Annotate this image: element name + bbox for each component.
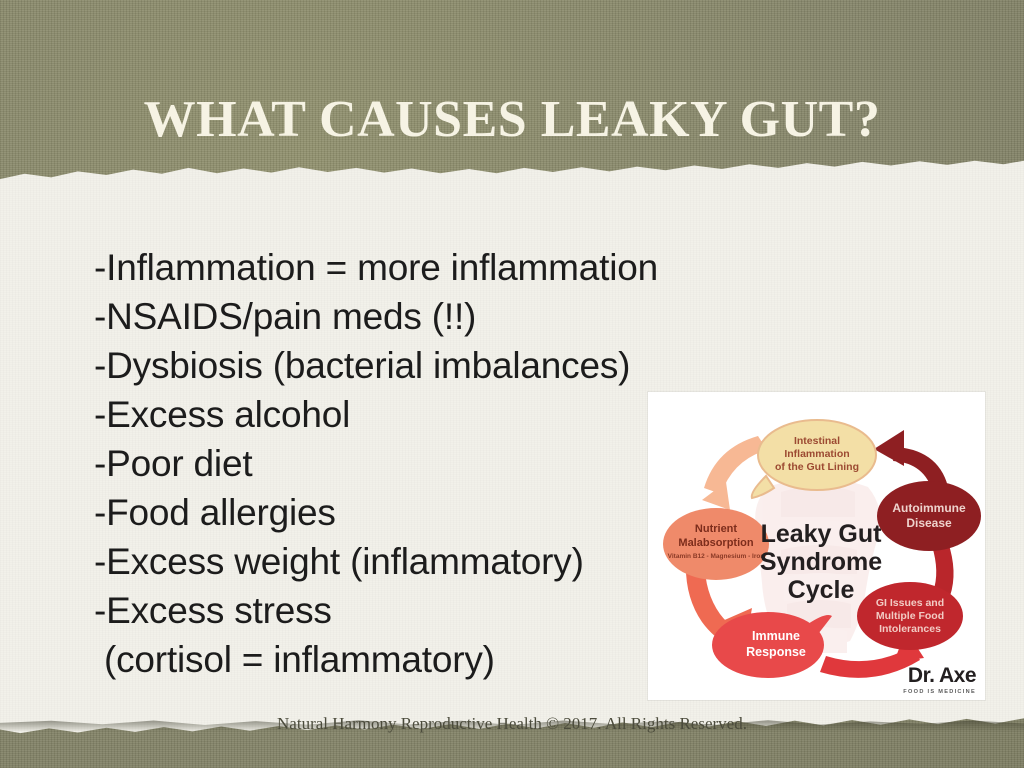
- node-autoimmune-disease: Autoimmune Disease: [877, 481, 981, 551]
- slide-title: WHAT CAUSES LEAKY GUT?: [0, 90, 1024, 150]
- bullet-item: -Inflammation = more inflammation: [94, 243, 714, 292]
- node-line: Intestinal: [794, 435, 840, 447]
- bullet-item: -NSAIDS/pain meds (!!): [94, 292, 714, 341]
- footer-copyright: Natural Harmony Reproductive Health © 20…: [0, 713, 1024, 735]
- node-line: Immune: [752, 629, 800, 643]
- node-line: Inflammation: [784, 448, 849, 460]
- bullet-item: -Excess stress: [94, 586, 714, 635]
- bullet-item: (cortisol = inflammatory): [94, 635, 714, 684]
- leaky-gut-cycle-diagram: Intestinal Inflammation of the Gut Linin…: [648, 392, 985, 700]
- node-line: Disease: [906, 516, 952, 530]
- watermark-tagline: FOOD IS MEDICINE: [903, 689, 976, 695]
- node-line: Response: [746, 645, 806, 659]
- center-title-line: Leaky Gut: [761, 520, 883, 548]
- node-line: Intolerances: [879, 623, 941, 635]
- bullet-list: -Inflammation = more inflammation-NSAIDS…: [94, 243, 714, 684]
- bullet-item: -Dysbiosis (bacterial imbalances): [94, 341, 714, 390]
- bullet-item: -Food allergies: [94, 488, 714, 537]
- node-line: Malabsorption: [678, 537, 753, 549]
- center-title-line: Cycle: [788, 576, 855, 604]
- node-line: GI Issues and: [876, 597, 944, 609]
- leaky-gut-cycle-image: Intestinal Inflammation of the Gut Linin…: [648, 392, 985, 700]
- node-gi-issues: GI Issues and Multiple Food Intolerances: [857, 582, 963, 650]
- node-line: Multiple Food: [876, 610, 944, 622]
- node-subtext: Vitamin B12 - Magnesium - Iron: [668, 553, 765, 560]
- bullet-item: -Excess alcohol: [94, 390, 714, 439]
- presentation-slide: WHAT CAUSES LEAKY GUT? -Inflammation = m…: [0, 0, 1024, 768]
- dr-axe-watermark: Dr. Axe FOOD IS MEDICINE: [903, 664, 976, 695]
- bullet-item: -Poor diet: [94, 439, 714, 488]
- watermark-brand: Dr. Axe: [908, 664, 976, 687]
- node-line: Nutrient: [695, 523, 738, 535]
- node-line: Autoimmune: [892, 501, 966, 515]
- center-title-line: Syndrome: [760, 548, 882, 576]
- bullet-item: -Excess weight (inflammatory): [94, 537, 714, 586]
- node-line: of the Gut Lining: [775, 461, 859, 473]
- node-nutrient-malabsorption: Nutrient Malabsorption Vitamin B12 - Mag…: [663, 508, 769, 580]
